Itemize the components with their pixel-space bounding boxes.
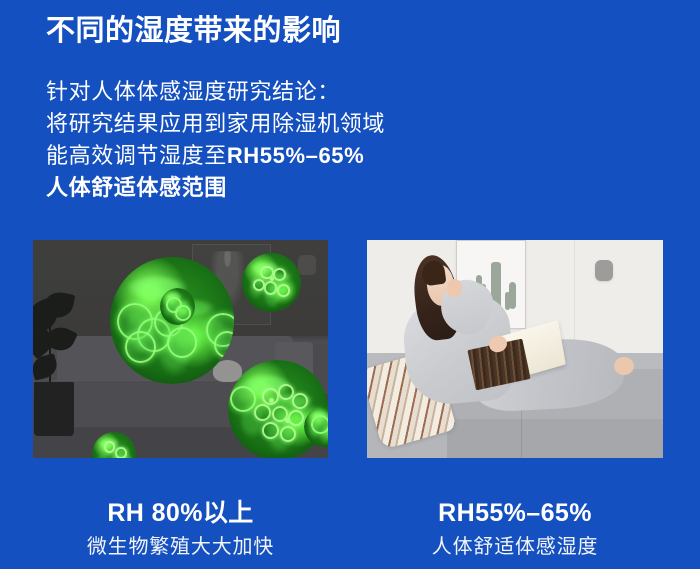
- caption-high-humidity: RH 80%以上 微生物繁殖大大加快: [33, 498, 328, 560]
- copy-line-3-prefix: 能高效调节湿度至: [46, 143, 227, 168]
- woman-reading-illustration: [385, 255, 640, 458]
- panel-image-comfort-humidity: [367, 240, 663, 458]
- humidity-range-emphasis: RH55%–65%: [227, 143, 364, 168]
- dark-living-room-scene: [33, 240, 328, 458]
- caption-comfort-humidity: RH55%–65% 人体舒适体感湿度: [367, 498, 663, 560]
- germ-icon: [242, 253, 301, 312]
- germ-icon: [160, 288, 195, 325]
- copy-line-3: 能高效调节湿度至RH55%–65%: [46, 140, 385, 172]
- woman-foot: [614, 357, 634, 375]
- copy-line-2: 将研究结果应用到家用除湿机领域: [46, 108, 385, 140]
- caption-title: RH55%–65%: [367, 498, 663, 529]
- caption-title: RH 80%以上: [33, 498, 328, 529]
- humidity-infographic-poster: 不同的湿度带来的影响 针对人体体感湿度研究结论： 将研究结果应用到家用除湿机领域…: [0, 0, 700, 569]
- body-copy-block: 针对人体体感湿度研究结论： 将研究结果应用到家用除湿机领域 能高效调节湿度至RH…: [46, 76, 385, 204]
- panel-image-high-humidity: [33, 240, 328, 458]
- bright-living-room-scene: [367, 240, 663, 458]
- page-title: 不同的湿度带来的影响: [46, 14, 341, 48]
- comparison-panels: [0, 240, 700, 458]
- copy-line-1: 针对人体体感湿度研究结论：: [46, 76, 385, 108]
- caption-subtitle: 微生物繁殖大大加快: [33, 534, 328, 560]
- caption-subtitle: 人体舒适体感湿度: [367, 534, 663, 560]
- copy-line-4: 人体舒适体感范围: [46, 172, 385, 204]
